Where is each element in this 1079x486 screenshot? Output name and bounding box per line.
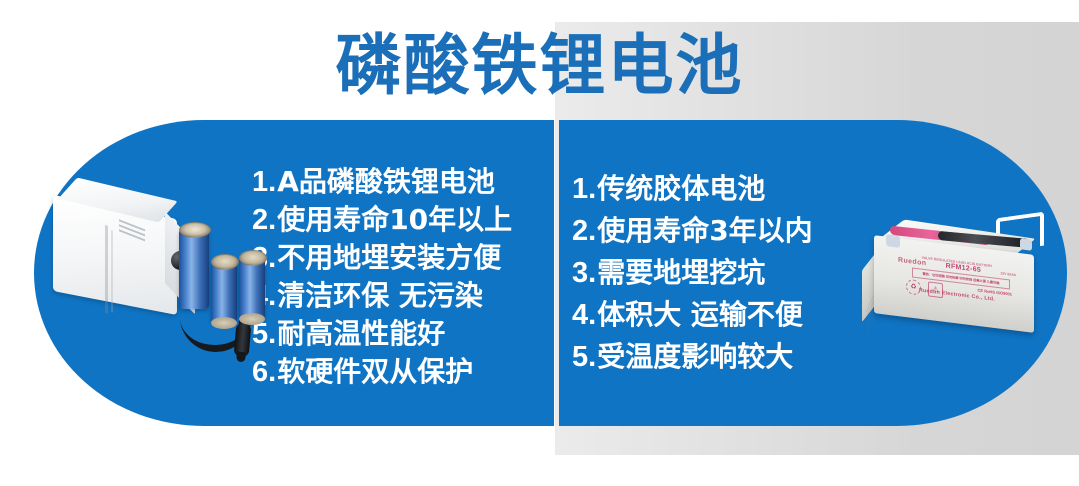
left-feature-list: 1. A品磷酸铁锂电池 2. 使用寿命10年以上 3. 不用地埋安装方便 4. … [252, 163, 552, 391]
enclosure-seam [105, 225, 108, 314]
enclosure-label-lines [119, 219, 145, 243]
list-item-number: 5. [572, 337, 596, 378]
right-feature-list-items: 1. 传统胶体电池 2. 使用寿命3年以内 3. 需要地埋挖坑 4. 体积大 运… [572, 168, 862, 378]
right-feature-list: 1. 传统胶体电池 2. 使用寿命3年以内 3. 需要地埋挖坑 4. 体积大 运… [572, 168, 862, 378]
list-item-number: 3. [572, 253, 596, 294]
list-item: 2. 使用寿命3年以内 [572, 210, 862, 252]
enclosure-seam-secondary [111, 230, 113, 313]
list-item: 4. 体积大 运输不便 [572, 294, 862, 336]
battery-label-brand: Ruedon [898, 258, 926, 267]
lithium-cell [239, 257, 265, 319]
terminal-negative [1020, 238, 1032, 251]
left-feature-list-items: 1. A品磷酸铁锂电池 2. 使用寿命10年以上 3. 不用地埋安装方便 4. … [252, 163, 552, 391]
terminal-positive [886, 234, 900, 248]
poster-canvas: 磷酸铁锂电池 [0, 0, 1079, 486]
list-item-label: 清洁环保 无污染 [277, 277, 483, 314]
list-item-label: 需要地埋挖坑 [597, 252, 765, 293]
battery-label-icons: ♻ ⚠ [906, 279, 943, 299]
list-item: 3. 需要地埋挖坑 [572, 252, 862, 294]
list-item-number: 2. [572, 211, 596, 252]
list-item-label: 不用地埋安装方便 [277, 239, 501, 276]
no-fire-icon: ⚠ [928, 281, 943, 298]
list-item: 1. 传统胶体电池 [572, 168, 862, 210]
list-item-label: 软硬件双从保护 [277, 353, 473, 390]
list-item-number: 1. [572, 169, 596, 210]
list-item: 6. 软硬件双从保护 [252, 353, 552, 391]
lithium-cell [211, 261, 237, 323]
lithium-battery-pack-image [45, 195, 260, 395]
list-item-label: 受温度影响较大 [597, 336, 793, 377]
recycle-icon: ♻ [906, 279, 921, 296]
list-item: 5. 耐高温性能好 [252, 315, 552, 353]
list-item-label: 传统胶体电池 [597, 168, 765, 209]
list-item-label: 耐高温性能好 [277, 315, 445, 352]
page-title: 磷酸铁锂电池 [0, 28, 1079, 104]
lead-acid-battery-image: VALVE REGULATED LEAD ACID BATTERY Ruedon… [860, 205, 1075, 380]
list-item: 3. 不用地埋安装方便 [252, 239, 552, 277]
list-item-label: A品磷酸铁锂电池 [277, 163, 495, 200]
list-item-label: 使用寿命3年以内 [597, 210, 812, 251]
list-item: 5. 受温度影响较大 [572, 336, 862, 378]
list-item-label: 使用寿命10年以上 [277, 201, 512, 238]
battery-label-voltage: 12V 65Ah [1000, 270, 1016, 278]
dc-plug-icon [234, 322, 252, 357]
list-item: 4. 清洁环保 无污染 [252, 277, 552, 315]
list-item-number: 4. [572, 295, 596, 336]
list-item: 1. A品磷酸铁锂电池 [252, 163, 552, 201]
list-item: 2. 使用寿命10年以上 [252, 201, 552, 239]
lithium-cell [179, 229, 209, 309]
list-item-label: 体积大 运输不便 [597, 294, 803, 335]
